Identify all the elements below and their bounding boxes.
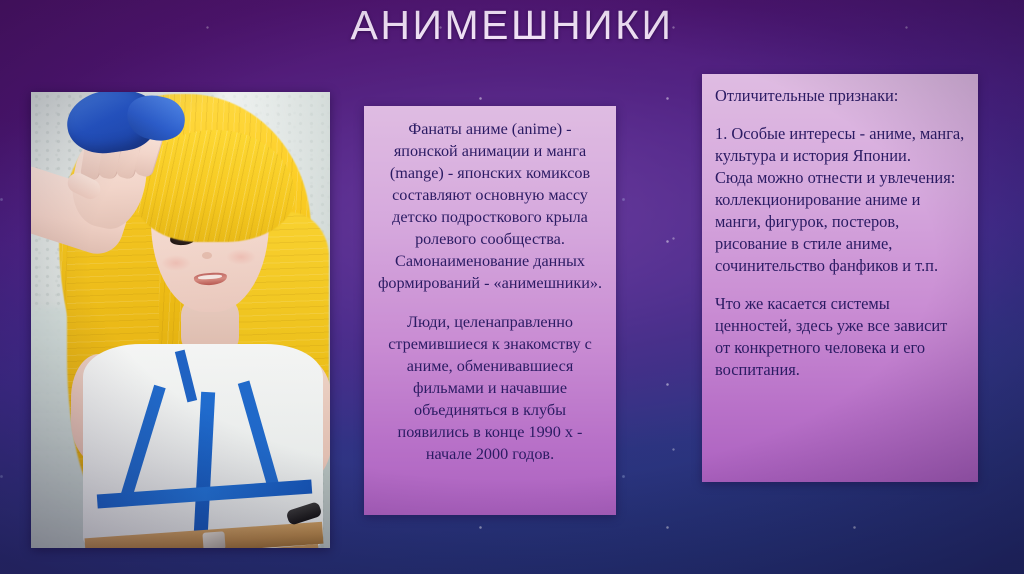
text-panel-right: Отличительные признаки: 1. Особые интере… — [702, 74, 978, 482]
panel-right-paragraph-1: 1. Особые интересы - аниме, манга, культ… — [715, 123, 966, 167]
panel-right-paragraph-2: Сюда можно отнести и увлечения: коллекци… — [715, 167, 966, 277]
paragraph-spacer — [377, 294, 603, 311]
photo-overlay-shading — [31, 92, 330, 548]
cosplay-photo — [31, 92, 330, 548]
panel-center-paragraph-1: Фанаты аниме (anime) - японской анимации… — [377, 118, 603, 294]
panel-right-paragraph-3: Что же касается системы ценностей, здесь… — [715, 293, 966, 381]
text-panel-center: Фанаты аниме (anime) - японской анимации… — [364, 106, 616, 515]
paragraph-spacer-right — [715, 277, 966, 293]
presentation-slide: АНИМЕШНИКИ — [0, 0, 1024, 574]
heading-spacer — [715, 107, 966, 123]
panel-center-paragraph-2: Люди, целенаправленно стремившиеся к зна… — [377, 311, 603, 465]
panel-right-heading: Отличительные признаки: — [715, 85, 966, 107]
page-title: АНИМЕШНИКИ — [0, 2, 1024, 49]
